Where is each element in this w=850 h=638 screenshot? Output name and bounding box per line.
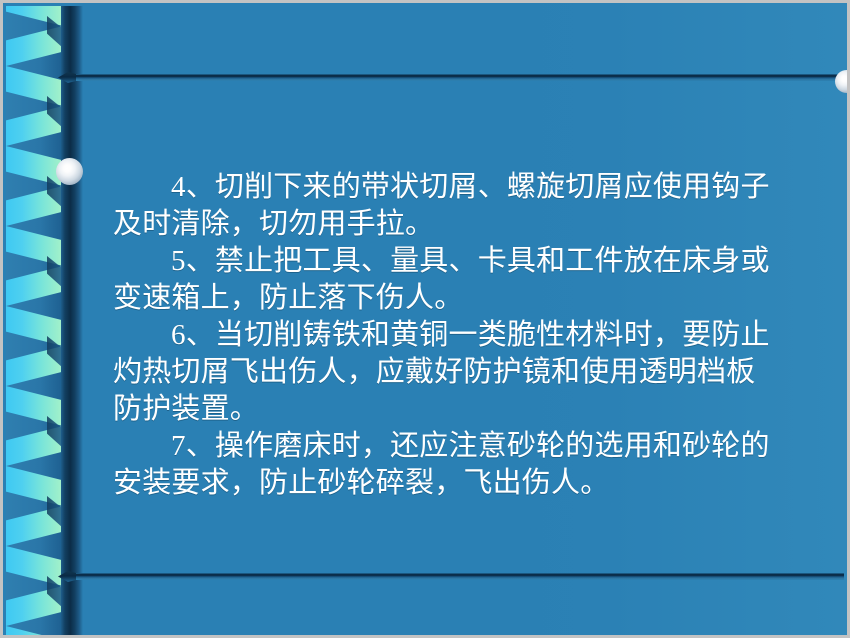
ribbon-chevron-unit (6, 146, 63, 226)
zigzag-ribbon-decoration (6, 6, 63, 638)
ribbon-band (6, 226, 63, 266)
ribbon-band (6, 66, 63, 106)
ribbon-chevron-unit (6, 66, 63, 146)
ribbon-chevron-unit (6, 306, 63, 386)
body-paragraph: 7、操作磨床时，还应注意砂轮的选用和砂轮的安装要求，防止砂轮碎裂，飞出伤人。 (113, 428, 781, 502)
glow-orb-left-icon (56, 158, 83, 185)
body-paragraph: 5、禁止把工具、量具、卡具和工件放在床身或变速箱上，防止落下伤人。 (113, 243, 781, 317)
ribbon-chevron-unit (6, 226, 63, 306)
ribbon-chevron-unit (6, 386, 63, 466)
ribbon-chevron-unit (6, 626, 63, 638)
slide-body-text: 4、切削下来的带状切屑、螺旋切屑应使用钩子及时清除，切勿用手拉。 5、禁止把工具… (113, 169, 781, 502)
ribbon-chevron-unit (6, 6, 63, 66)
ribbon-band (6, 546, 63, 586)
ribbon-band (6, 386, 63, 426)
vertical-bevel-bar (61, 6, 83, 638)
ribbon-band (6, 466, 63, 506)
body-paragraph: 6、当切削铸铁和黄铜一类脆性材料时，要防止灼热切屑飞出伤人，应戴好防护镜和使用透… (113, 317, 781, 428)
horizontal-rule-bottom (65, 573, 844, 580)
ribbon-band (6, 306, 63, 346)
ribbon-band (6, 626, 63, 638)
presentation-slide: 4、切削下来的带状切屑、螺旋切屑应使用钩子及时清除，切勿用手拉。 5、禁止把工具… (0, 0, 850, 638)
ribbon-chevron-unit (6, 466, 63, 546)
ribbon-chevron-unit (6, 546, 63, 626)
horizontal-rule-top (65, 74, 844, 81)
ribbon-band (6, 146, 63, 186)
body-paragraph: 4、切削下来的带状切屑、螺旋切屑应使用钩子及时清除，切勿用手拉。 (113, 169, 781, 243)
